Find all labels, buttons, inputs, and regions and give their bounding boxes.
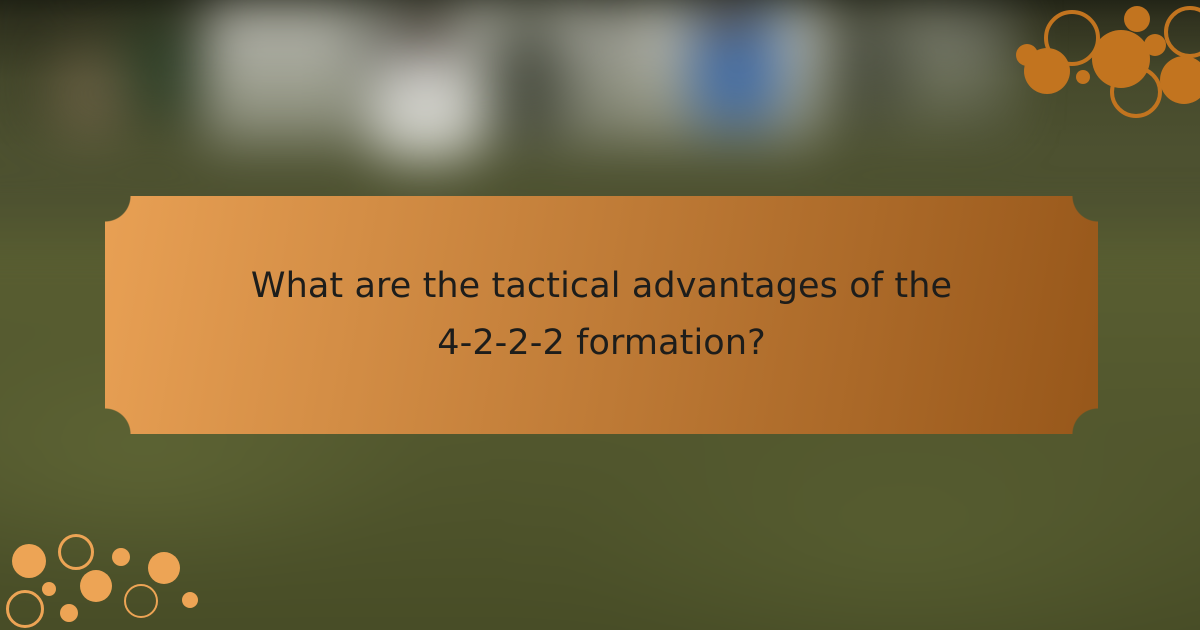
- background-figure: [488, 18, 572, 138]
- background-figure: [830, 20, 920, 116]
- background-rail: [0, 0, 1200, 16]
- background-post: [190, 0, 206, 140]
- background-figure: [122, 18, 192, 116]
- background-figure-white: [370, 50, 480, 160]
- background-post: [20, 0, 36, 140]
- background-post: [600, 0, 616, 140]
- background-post: [970, 0, 986, 140]
- background-post: [355, 0, 371, 140]
- question-card: What are the tactical advantages of the …: [105, 196, 1098, 434]
- background-figure: [50, 50, 130, 140]
- question-card-banner: What are the tactical advantages of the …: [0, 0, 1200, 630]
- question-text: What are the tactical advantages of the …: [105, 196, 1098, 434]
